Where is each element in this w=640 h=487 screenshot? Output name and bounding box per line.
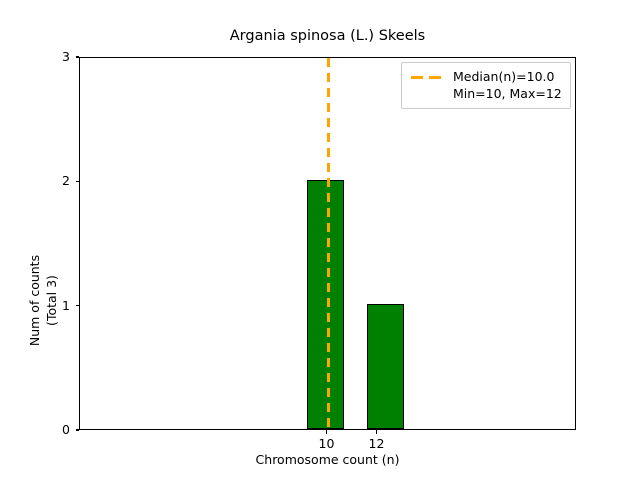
legend-dashed-line-icon bbox=[410, 69, 444, 85]
y-axis-label-wrap: Num of counts (Total 3) bbox=[26, 57, 60, 430]
chart-title: Argania spinosa (L.) Skeels bbox=[79, 28, 576, 45]
bar-10 bbox=[307, 180, 344, 429]
x-tick-mark bbox=[376, 430, 377, 434]
y-tick-mark bbox=[76, 305, 80, 306]
chart-legend: Median(n)=10.0 Min=10, Max=12 bbox=[401, 62, 571, 109]
y-tick-label: 1 bbox=[62, 298, 70, 314]
median-line bbox=[327, 58, 330, 429]
y-tick-label: 3 bbox=[62, 49, 70, 65]
chart-figure: Argania spinosa (L.) Skeels Median(n)=10… bbox=[0, 0, 640, 480]
y-tick-mark bbox=[76, 56, 80, 57]
x-axis-label: Chromosome count (n) bbox=[79, 452, 576, 467]
bar-12 bbox=[367, 304, 404, 429]
legend-label: Median(n)=10.0 Min=10, Max=12 bbox=[453, 68, 562, 102]
y-tick-label: 0 bbox=[62, 422, 70, 438]
plot-area: Median(n)=10.0 Min=10, Max=12 bbox=[79, 57, 576, 430]
y-tick-label: 2 bbox=[62, 173, 70, 189]
y-tick-mark bbox=[76, 429, 80, 430]
y-axis-label: Num of counts (Total 3) bbox=[26, 114, 60, 487]
x-tick-label: 12 bbox=[347, 436, 407, 452]
x-tick-mark bbox=[326, 430, 327, 434]
y-tick-mark bbox=[76, 181, 80, 182]
